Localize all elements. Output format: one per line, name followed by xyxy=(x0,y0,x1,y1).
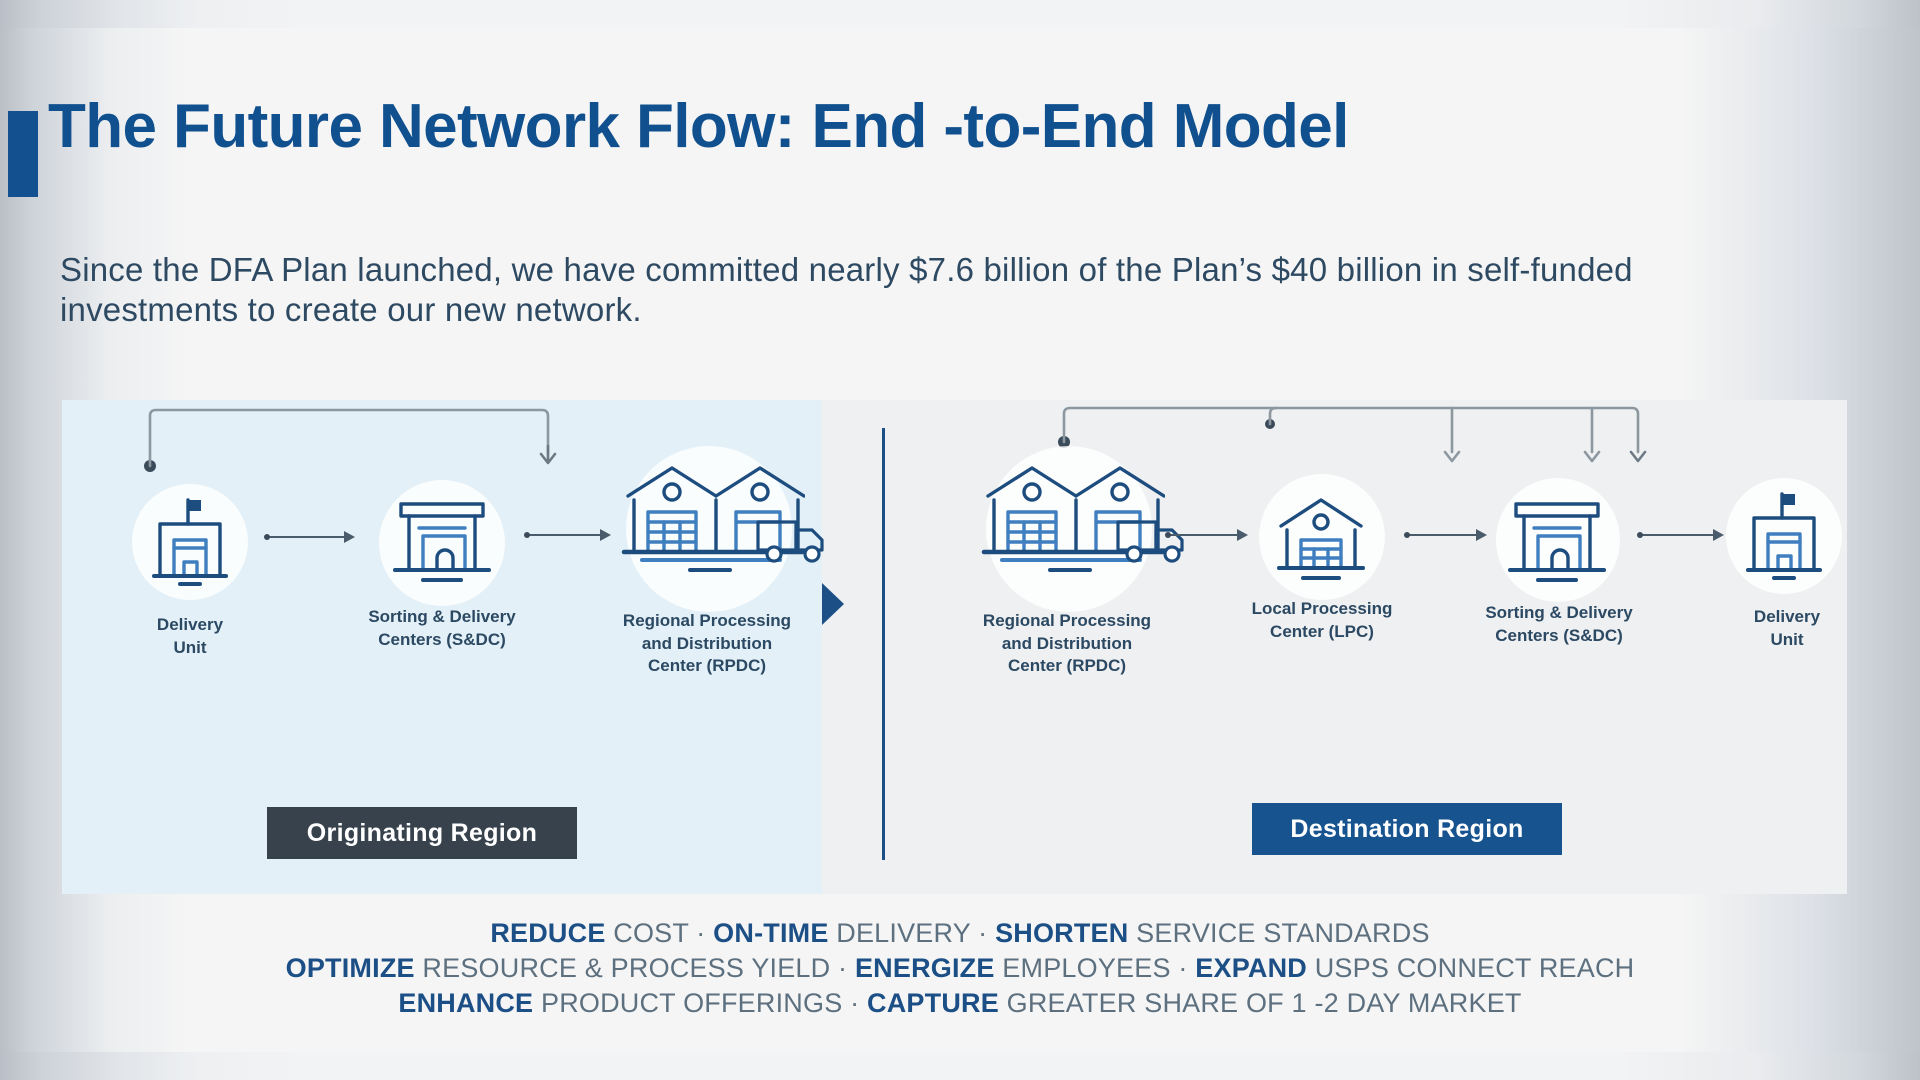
page-title: The Future Network Flow: End -to-End Mod… xyxy=(48,91,1349,162)
tagline-block: REDUCE COST · ON-TIME DELIVERY · SHORTEN… xyxy=(0,916,1920,1021)
node-caption: Delivery Unit xyxy=(1754,606,1820,651)
local-processing-center-icon xyxy=(1271,492,1371,593)
tagline-keyword: ENERGIZE xyxy=(855,953,995,983)
tagline-phrase: EMPLOYEES xyxy=(995,953,1171,983)
tagline-phrase: COST xyxy=(606,918,689,948)
sorting-delivery-center-icon xyxy=(387,494,497,595)
delivery-truck-icon xyxy=(754,512,830,573)
tagline-phrase: DELIVERY xyxy=(829,918,971,948)
tagline-separator: · xyxy=(842,988,867,1018)
tagline-line: OPTIMIZE RESOURCE & PROCESS YIELD · ENER… xyxy=(0,951,1920,986)
tagline-keyword: SHORTEN xyxy=(995,918,1128,948)
slide-canvas: The Future Network Flow: End -to-End Mod… xyxy=(0,28,1920,1052)
tagline-separator: · xyxy=(830,953,855,983)
tagline-separator: · xyxy=(970,918,995,948)
tagline-phrase: GREATER SHARE OF 1 -2 DAY MARKET xyxy=(999,988,1522,1018)
region-divider-arrow xyxy=(822,583,844,625)
tagline-keyword: ON-TIME xyxy=(713,918,828,948)
node-caption: Regional Processing and Distribution Cen… xyxy=(623,610,791,678)
tagline-separator: · xyxy=(1171,953,1196,983)
delivery-unit-icon xyxy=(144,494,236,599)
badge-destination-region: Destination Region xyxy=(1252,803,1562,855)
tagline-line: ENHANCE PRODUCT OFFERINGS · CAPTURE GREA… xyxy=(0,986,1920,1021)
delivery-unit-icon xyxy=(1738,488,1830,593)
delivery-truck-icon xyxy=(1114,512,1190,573)
tagline-keyword: CAPTURE xyxy=(867,988,999,1018)
tagline-phrase: USPS CONNECT REACH xyxy=(1307,953,1634,983)
node-caption: Sorting & Delivery Centers (S&DC) xyxy=(1485,602,1632,647)
tagline-phrase: PRODUCT OFFERINGS xyxy=(533,988,842,1018)
title-row: The Future Network Flow: End -to-End Mod… xyxy=(0,103,1780,193)
tagline-keyword: EXPAND xyxy=(1195,953,1307,983)
node-caption: Delivery Unit xyxy=(157,614,223,659)
tagline-keyword: REDUCE xyxy=(490,918,605,948)
flow-connector-4 xyxy=(1407,534,1485,536)
badge-originating-region: Originating Region xyxy=(267,807,577,859)
flow-connector-2 xyxy=(527,534,609,536)
title-accent-bar xyxy=(8,111,38,197)
subtitle-text: Since the DFA Plan launched, we have com… xyxy=(60,250,1820,331)
tagline-phrase: SERVICE STANDARDS xyxy=(1128,918,1429,948)
flow-connector-3 xyxy=(1168,534,1246,536)
sorting-delivery-center-icon xyxy=(1502,494,1612,595)
region-divider xyxy=(882,428,885,860)
tagline-keyword: ENHANCE xyxy=(398,988,533,1018)
node-caption: Sorting & Delivery Centers (S&DC) xyxy=(368,606,515,651)
tagline-phrase: RESOURCE & PROCESS YIELD xyxy=(415,953,831,983)
tagline-keyword: OPTIMIZE xyxy=(286,953,415,983)
tagline-line: REDUCE COST · ON-TIME DELIVERY · SHORTEN… xyxy=(0,916,1920,951)
flow-connector-5 xyxy=(1640,534,1722,536)
tagline-separator: · xyxy=(689,918,714,948)
node-caption: Local Processing Center (LPC) xyxy=(1252,598,1393,643)
slide-stage: The Future Network Flow: End -to-End Mod… xyxy=(0,0,1920,1080)
node-caption: Regional Processing and Distribution Cen… xyxy=(983,610,1151,678)
flow-connector-1 xyxy=(267,536,353,538)
network-flow-diagram: Delivery Unit xyxy=(62,400,1847,894)
